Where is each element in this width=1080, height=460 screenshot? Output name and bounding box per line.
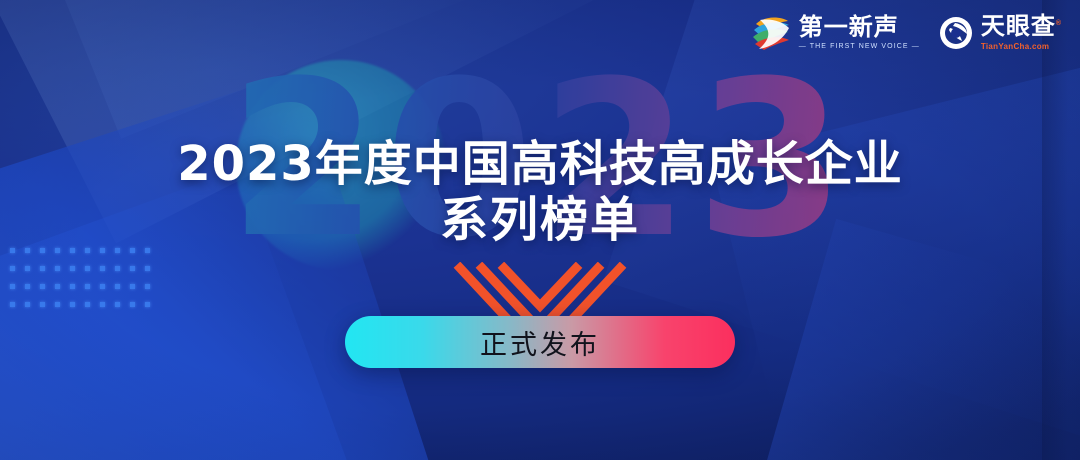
dot-grid-cell (10, 284, 15, 289)
trademark-symbol: ® (1056, 20, 1062, 27)
status-badge: 正式发布 (345, 316, 735, 368)
logo-first-new-voice[interactable]: 第一新声 — THE FIRST NEW VOICE — (750, 14, 920, 52)
dot-grid-cell (25, 302, 30, 307)
page-title: 2023年度中国高科技高成长企业 系列榜单 (0, 136, 1080, 248)
dot-grid-cell (115, 302, 120, 307)
dot-grid-cell (130, 284, 135, 289)
dot-grid-cell (70, 284, 75, 289)
dot-grid-cell (40, 284, 45, 289)
logo-first-new-voice-text: 第一新声 — THE FIRST NEW VOICE — (799, 16, 920, 49)
logo-tianyancha-name: 天眼查® (981, 15, 1062, 39)
dot-grid-cell (70, 302, 75, 307)
dot-grid-cell (55, 302, 60, 307)
logo-group: 第一新声 — THE FIRST NEW VOICE — 天眼查® TianYa… (750, 14, 1062, 52)
tianyancha-eye-icon (938, 15, 974, 51)
logo-tianyancha-url: TianYanCha.com (981, 42, 1062, 51)
logo-first-new-voice-name: 第一新声 (799, 16, 920, 40)
dot-grid-cell (25, 284, 30, 289)
dot-grid-cell (100, 284, 105, 289)
dot-grid-cell (40, 302, 45, 307)
logo-tianyancha-name-cn: 天眼查 (981, 13, 1056, 40)
logo-tianyancha[interactable]: 天眼查® TianYanCha.com (938, 15, 1062, 51)
logo-tianyancha-text: 天眼查® TianYanCha.com (981, 15, 1062, 50)
dot-grid-cell (115, 284, 120, 289)
dot-grid-cell (100, 302, 105, 307)
logo-first-new-voice-tagline: — THE FIRST NEW VOICE — (799, 43, 920, 50)
dot-grid-cell (10, 302, 15, 307)
headline-line-2: 系列榜单 (0, 192, 1080, 248)
dot-grid-cell (85, 302, 90, 307)
dot-grid-cell (145, 302, 150, 307)
promo-banner: 2023 2023年度中国高科技高成长企业 系列榜单 正式发布 (0, 0, 1080, 460)
first-new-voice-swoosh-icon (750, 14, 792, 52)
headline-line-1: 2023年度中国高科技高成长企业 (0, 136, 1080, 192)
dot-grid-cell (55, 284, 60, 289)
dot-grid-cell (85, 284, 90, 289)
status-badge-label: 正式发布 (480, 323, 600, 362)
dot-grid-cell (130, 302, 135, 307)
dot-grid-cell (145, 284, 150, 289)
